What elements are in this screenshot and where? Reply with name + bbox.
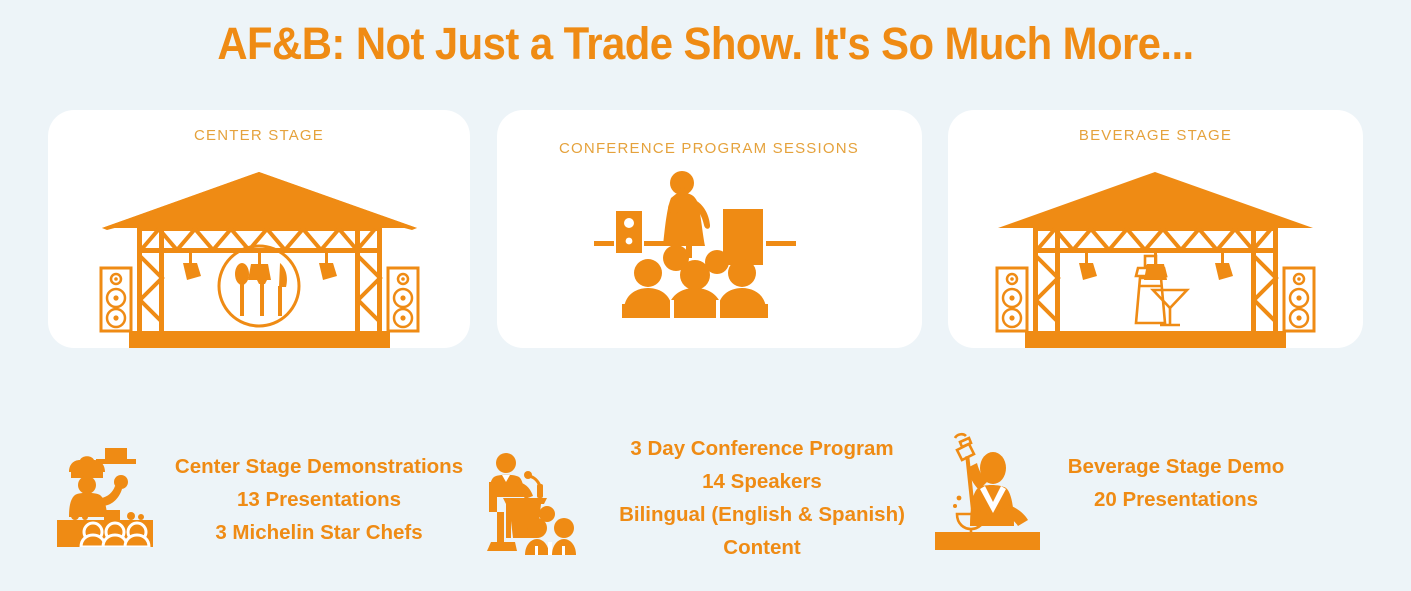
card-conference-program-art	[497, 157, 922, 348]
feature-card-row: CENTER STAGE	[48, 110, 1363, 350]
stat-line: 14 Speakers	[597, 465, 927, 498]
card-center-stage-label: CENTER STAGE	[194, 127, 324, 144]
stat-line: Bilingual (English & Spanish) Content	[597, 498, 927, 564]
stat-line: Center Stage Demonstrations	[169, 450, 469, 483]
speaker-with-audience-icon	[594, 170, 824, 330]
card-center-stage[interactable]: CENTER STAGE	[48, 110, 470, 348]
stats-row: Center Stage Demonstrations 13 Presentat…	[0, 420, 1411, 590]
stat-conference-program-text: 3 Day Conference Program 14 Speakers Bil…	[597, 428, 927, 564]
page-title: AF&B: Not Just a Trade Show. It's So Muc…	[49, 18, 1361, 70]
stage-with-cocktail-shaker-icon	[993, 168, 1318, 348]
chef-demonstration-icon	[55, 442, 155, 547]
podium-speaker-icon	[485, 450, 585, 555]
stat-center-stage: Center Stage Demonstrations 13 Presentat…	[0, 420, 480, 590]
card-beverage-stage[interactable]: BEVERAGE STAGE	[948, 110, 1363, 348]
stat-line: 13 Presentations	[169, 483, 469, 516]
stat-conference-program: 3 Day Conference Program 14 Speakers Bil…	[480, 420, 935, 590]
card-conference-program-label: CONFERENCE PROGRAM SESSIONS	[559, 140, 859, 157]
stat-line: 3 Day Conference Program	[597, 432, 927, 465]
stat-line: 3 Michelin Star Chefs	[169, 516, 469, 549]
card-beverage-stage-art	[948, 144, 1363, 348]
stat-line: Beverage Stage Demo	[1056, 450, 1296, 483]
card-center-stage-art	[48, 144, 470, 348]
stat-beverage-stage: Beverage Stage Demo 20 Presentations	[935, 420, 1405, 590]
stat-line: 20 Presentations	[1056, 483, 1296, 516]
bartender-icon	[935, 432, 1040, 550]
card-conference-program[interactable]: CONFERENCE PROGRAM SESSIONS	[497, 110, 922, 348]
stage-with-plate-cutlery-icon	[97, 168, 422, 348]
card-beverage-stage-label: BEVERAGE STAGE	[1079, 127, 1232, 144]
stat-center-stage-text: Center Stage Demonstrations 13 Presentat…	[169, 436, 469, 549]
stat-beverage-stage-text: Beverage Stage Demo 20 Presentations	[1056, 426, 1296, 516]
